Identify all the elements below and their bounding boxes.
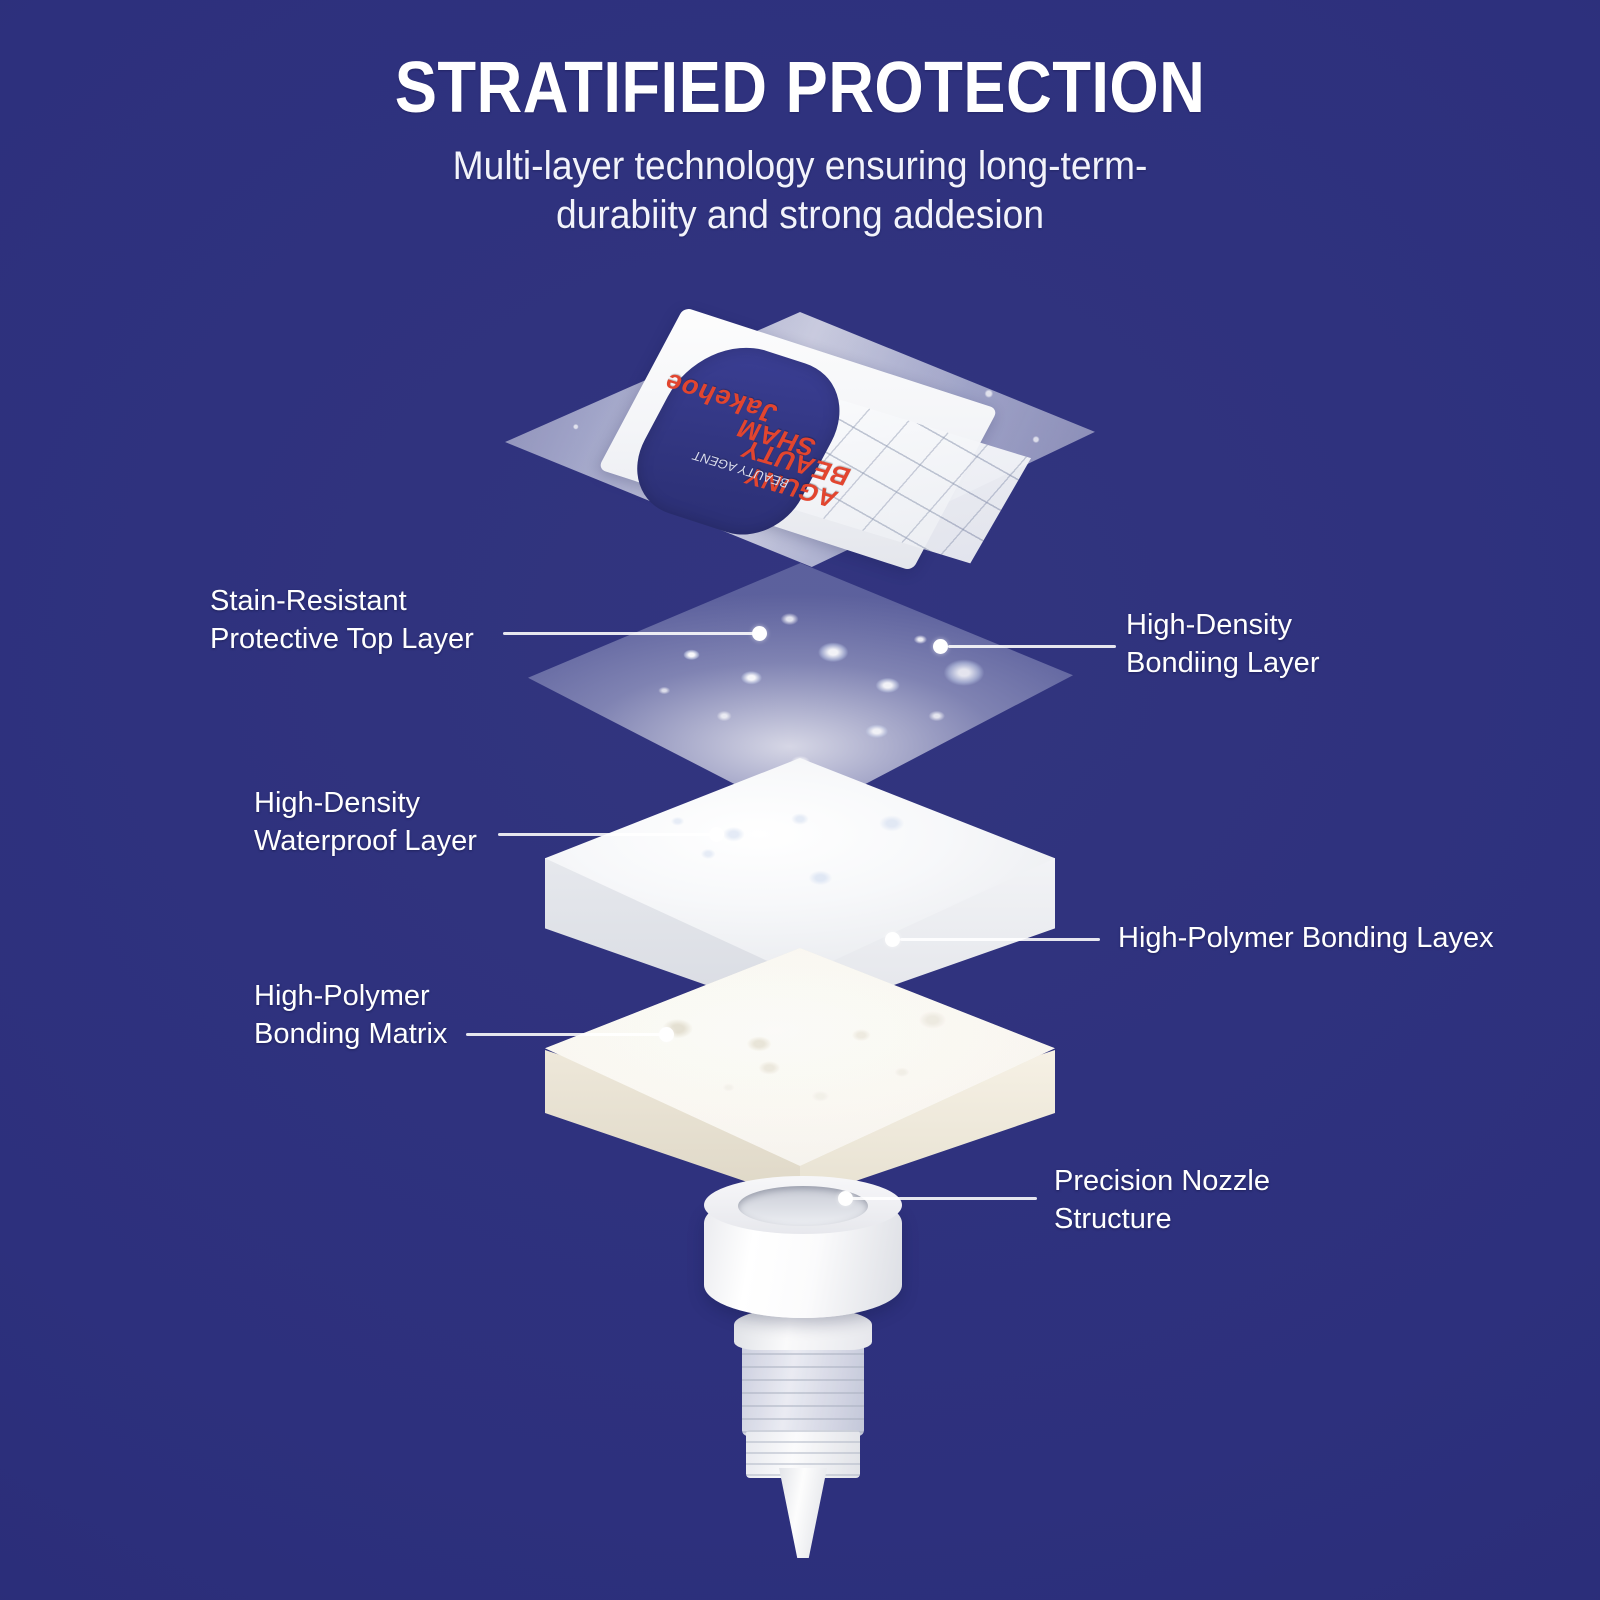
callout-line-1: High-Polymer Bonding Layex [1118, 920, 1494, 958]
white-slab-edge-left [545, 858, 800, 1018]
cream-slab-edge-left [545, 1050, 800, 1200]
leader-dot-precision-nozzle [838, 1191, 853, 1206]
callout-line-1: High-Density [1126, 607, 1319, 645]
nozzle-tip [779, 1468, 827, 1558]
packet-small-text: BEAUTY AGENT [690, 448, 792, 491]
layer-precision-nozzle [690, 1168, 920, 1558]
page-title: STRATIFIED PROTECTION [96, 52, 1504, 124]
nozzle-shoulder [734, 1308, 872, 1350]
packet-label-band [615, 330, 863, 547]
leader-line-precision-nozzle [851, 1197, 1037, 1200]
packet-film [505, 312, 1095, 567]
leader-dot-stain-resistant [752, 626, 767, 641]
nozzle-cap-rim [704, 1176, 902, 1234]
packet-headline-line-3: AGUNY [740, 461, 843, 513]
leader-dot-high-polymer-bonding-matrix [659, 1027, 674, 1042]
leader-dot-high-density-bondiing [933, 639, 948, 654]
leader-line-high-density-waterproof [498, 833, 716, 836]
callout-high-density-waterproof-layer: High-Density Waterproof Layer [254, 785, 477, 860]
header: STRATIFIED PROTECTION Multi-layer techno… [0, 52, 1600, 240]
leader-line-high-polymer-bonding-matrix [466, 1033, 666, 1036]
layer-sealed-sachet-packet: Jakehoe SHAM BEAUTY AGUNY BEAUTY AGENT [505, 312, 1095, 567]
exploded-layer-stack: Jakehoe SHAM BEAUTY AGUNY BEAUTY AGENT [0, 0, 1600, 1600]
leader-dot-high-polymer-bonding-layex [885, 932, 900, 947]
subtitle-line-1: Multi-layer technology ensuring long-ter… [453, 144, 1148, 188]
nozzle-cap [704, 1190, 902, 1318]
subtitle-line-2: durabiity and strong addesion [56, 191, 1544, 240]
callout-line-2: Waterproof Layer [254, 823, 477, 861]
nozzle-ribbed-body [742, 1340, 864, 1436]
page-subtitle: Multi-layer technology ensuring long-ter… [56, 142, 1544, 240]
leader-line-high-density-bondiing [948, 645, 1116, 648]
packet-headline-line-2: BEAUTY [736, 433, 856, 491]
leader-dot-high-density-waterproof [709, 827, 724, 842]
callout-line-2: Bonding Matrix [254, 1016, 447, 1054]
nozzle-ribbed-neck [746, 1430, 860, 1478]
callout-line-1: High-Density [254, 785, 477, 823]
packet-tile-graphic [769, 397, 1031, 564]
callout-line-1: High-Polymer [254, 978, 447, 1016]
layer-white-waterproof-slab [545, 758, 1055, 976]
callout-high-polymer-bonding-layex: High-Polymer Bonding Layex [1118, 920, 1494, 958]
callout-line-2: Bondiing Layer [1126, 645, 1319, 683]
water-droplets-film [528, 563, 1073, 818]
packet-headline-line-1: SHAM [731, 413, 821, 463]
stratified-protection-infographic: STRATIFIED PROTECTION Multi-layer techno… [0, 0, 1600, 1600]
callout-line-2: Protective Top Layer [210, 621, 474, 659]
callout-line-2: Structure [1054, 1201, 1270, 1239]
callout-high-density-bondiing-layer: High-Density Bondiing Layer [1126, 607, 1319, 682]
leader-line-stain-resistant [503, 632, 759, 635]
callout-high-polymer-bonding-matrix: High-Polymer Bonding Matrix [254, 978, 447, 1053]
leader-line-high-polymer-bonding-layex [900, 938, 1100, 941]
layer-cream-polymer-slab [545, 948, 1055, 1166]
callout-stain-resistant-protective-top-layer: Stain-Resistant Protective Top Layer [210, 583, 474, 658]
packet-inner-tube [598, 307, 998, 571]
callout-line-1: Precision Nozzle [1054, 1163, 1270, 1201]
layer-transparent-top-film [528, 563, 1073, 818]
cream-slab-edge-right [800, 1050, 1055, 1200]
callout-line-1: Stain-Resistant [210, 583, 474, 621]
packet-brand-text: Jakehoe [659, 367, 783, 429]
callout-precision-nozzle-structure: Precision Nozzle Structure [1054, 1163, 1270, 1238]
